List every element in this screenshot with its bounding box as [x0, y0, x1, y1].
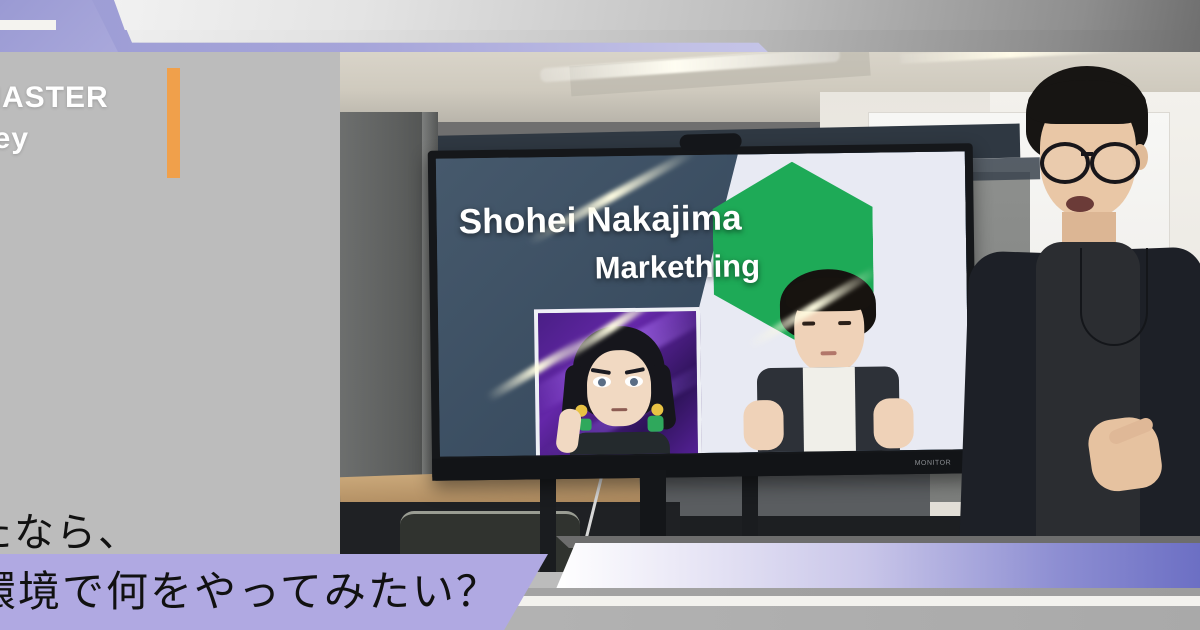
webcam-icon [679, 133, 741, 151]
presenter-mouth [1066, 196, 1094, 212]
presenter-fringe [1028, 80, 1146, 124]
photo-thumb-left [743, 400, 784, 451]
brand-lockup: MASTER key [0, 78, 196, 160]
caption-line-2: 環境で何をやってみたい？ [0, 558, 500, 619]
avatar-accent [579, 419, 591, 431]
photo-mouth [821, 351, 837, 355]
monitor-stand-neck [640, 470, 666, 572]
avatar-torso [570, 431, 671, 456]
presentation-monitor[interactable]: Shohei Nakajima Markething [428, 143, 978, 481]
photo-thumb-right [873, 398, 914, 449]
avatar-accent [647, 416, 663, 432]
photo-eye [802, 321, 815, 325]
avatar-pupil [630, 378, 638, 386]
slide-title: Shohei Nakajima [458, 197, 879, 243]
video-frame[interactable]: Shohei Nakajima Markething [340, 52, 1200, 572]
slide-canvas: Shohei Nakajima Markething [436, 151, 969, 456]
screenshot-canvas: Shohei Nakajima Markething [0, 0, 1200, 630]
glasses-icon [1090, 142, 1140, 184]
avatar [534, 307, 702, 457]
avatar-pupil [598, 378, 606, 386]
photo-eye [838, 321, 851, 325]
brand-line-2: key [0, 119, 196, 160]
monitor-screen: Shohei Nakajima Markething [436, 151, 969, 456]
presenter-person [940, 52, 1200, 572]
glasses-bridge [1081, 152, 1093, 156]
brand-line-1: MASTER [0, 78, 196, 119]
slide-photo [737, 262, 918, 454]
avatar-earring [651, 404, 663, 416]
lanyard-cord [1080, 248, 1148, 346]
glasses-icon [1040, 142, 1090, 184]
photo-shirt [803, 367, 856, 456]
avatar-mouth [611, 408, 627, 411]
caption-line-1: たなら、 [0, 500, 140, 558]
avatar-face [587, 350, 652, 427]
